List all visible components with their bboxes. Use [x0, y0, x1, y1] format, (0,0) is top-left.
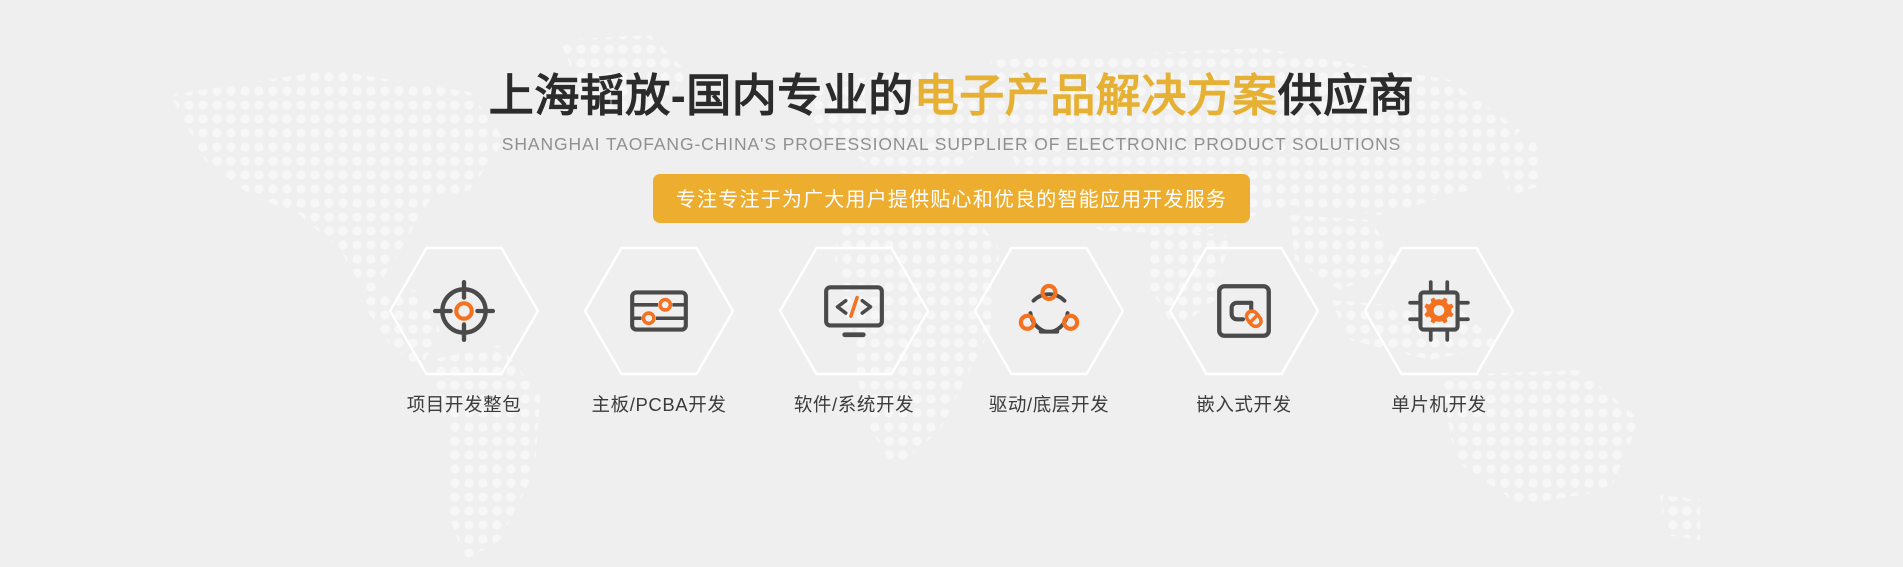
hexagon-frame	[389, 245, 539, 377]
service-label: 软件/系统开发	[794, 391, 914, 417]
service-item-mcu[interactable]: 单片机开发	[1357, 245, 1522, 417]
hexagon-frame	[1364, 245, 1514, 377]
subtitle-english: SHANGHAI TAOFANG-CHINA'S PROFESSIONAL SU…	[502, 134, 1401, 155]
service-label: 嵌入式开发	[1196, 391, 1292, 417]
hexagon-frame	[584, 245, 734, 377]
hexagon-frame	[1169, 245, 1319, 377]
headline-part-2: 供应商	[1278, 70, 1415, 121]
microcontroller-gear-icon	[1406, 278, 1472, 344]
service-item-driver[interactable]: 驱动/底层开发	[967, 245, 1132, 417]
service-item-pcba[interactable]: 主板/PCBA开发	[577, 245, 742, 417]
service-list: 项目开发整包	[382, 245, 1522, 417]
service-item-embedded[interactable]: 嵌入式开发	[1162, 245, 1327, 417]
hexagon-frame	[779, 245, 929, 377]
headline-highlight: 电子产品解决方案	[914, 70, 1278, 121]
network-nodes-icon	[1016, 278, 1082, 344]
tagline-badge[interactable]: 专注专注于为广大用户提供贴心和优良的智能应用开发服务	[653, 174, 1250, 223]
circuit-board-icon	[626, 278, 692, 344]
service-label: 主板/PCBA开发	[592, 391, 727, 417]
service-item-software[interactable]: 软件/系统开发	[772, 245, 937, 417]
hexagon-frame	[974, 245, 1124, 377]
embedded-chip-link-icon	[1211, 278, 1277, 344]
service-label: 项目开发整包	[407, 391, 522, 417]
page-title: 上海韬放-国内专业的电子产品解决方案供应商	[489, 72, 1415, 121]
crosshair-target-icon	[431, 278, 497, 344]
service-item-project-package[interactable]: 项目开发整包	[382, 245, 547, 417]
service-label: 单片机开发	[1391, 391, 1487, 417]
hero-banner: 上海韬放-国内专业的电子产品解决方案供应商 SHANGHAI TAOFANG-C…	[0, 0, 1903, 567]
service-label: 驱动/底层开发	[989, 391, 1109, 417]
monitor-code-icon	[821, 278, 887, 344]
headline-part-1: 上海韬放-国内专业的	[489, 70, 914, 121]
